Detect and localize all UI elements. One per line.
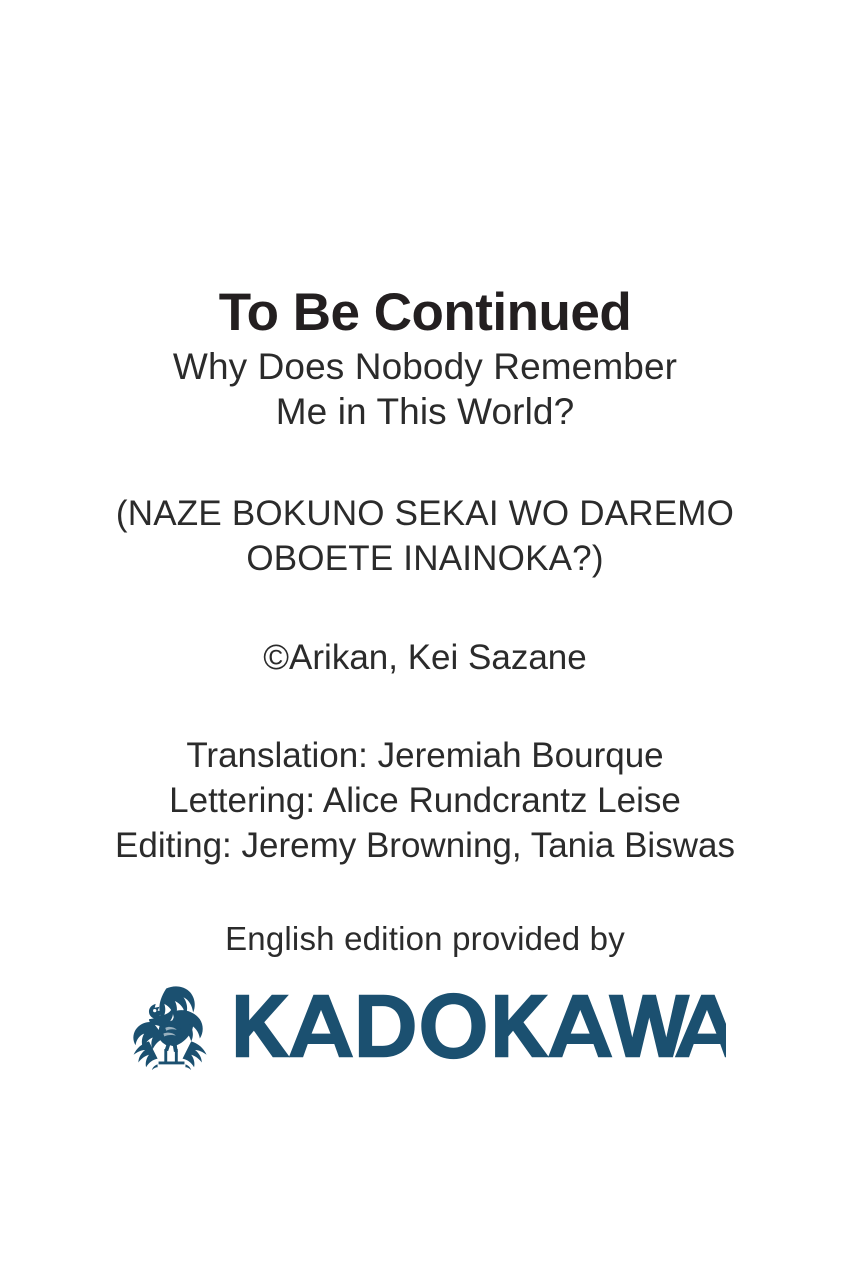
series-subtitle: Why Does Nobody Remember Me in This Worl… — [0, 344, 850, 434]
kadokawa-logo-lockup — [0, 978, 850, 1074]
editing-credit: Editing: Jeremy Browning, Tania Biswas — [0, 823, 850, 868]
provider-label-text: English edition provided by — [0, 918, 850, 960]
staff-credits: Translation: Jeremiah Bourque Lettering:… — [0, 733, 850, 868]
series-subtitle-line-1: Why Does Nobody Remember — [0, 344, 850, 389]
translation-credit: Translation: Jeremiah Bourque — [0, 733, 850, 778]
romanized-title-line-2: OBOETE INAINOKA?) — [0, 536, 850, 581]
romanized-title-line-1: (NAZE BOKUNO SEKAI WO DAREMO — [0, 491, 850, 536]
series-subtitle-line-2: Me in This World? — [0, 389, 850, 434]
kadokawa-phoenix-logo-icon — [124, 978, 220, 1074]
page-title: To Be Continued — [0, 283, 850, 343]
copyright-notice: ©Arikan, Kei Sazane — [0, 637, 850, 679]
credits-stack: To Be Continued Why Does Nobody Remember… — [0, 283, 850, 1074]
lettering-credit: Lettering: Alice Rundcrantz Leise — [0, 778, 850, 823]
romanized-title: (NAZE BOKUNO SEKAI WO DAREMO OBOETE INAI… — [0, 491, 850, 581]
kadokawa-wordmark — [234, 991, 726, 1061]
credits-page: To Be Continued Why Does Nobody Remember… — [0, 0, 850, 1275]
provider-label: English edition provided by — [0, 918, 850, 960]
page-title-text: To Be Continued — [0, 283, 850, 343]
copyright-text: ©Arikan, Kei Sazane — [0, 637, 850, 679]
